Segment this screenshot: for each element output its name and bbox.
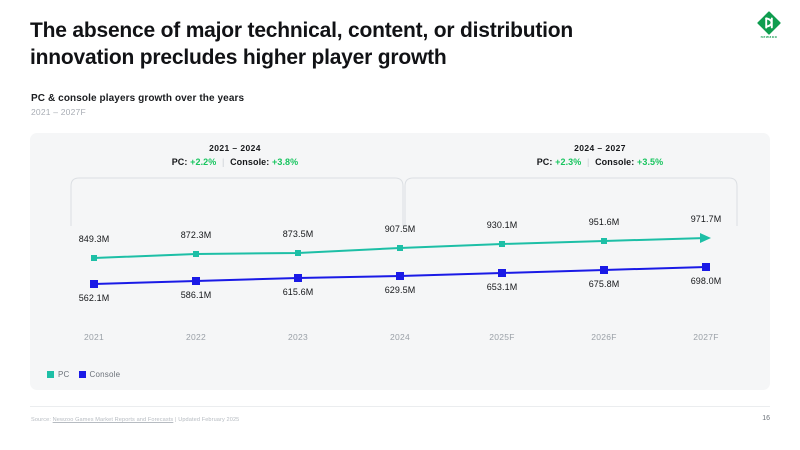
chart-panel: 2021 – 2024 PC: +2.2% | Console: +3.8% 2…: [30, 133, 770, 390]
legend-item-console[interactable]: Console: [79, 370, 121, 379]
x-axis-label-2022: 2022: [186, 332, 206, 342]
section-range: 2021 – 2027F: [31, 107, 86, 117]
legend-item-pc[interactable]: PC: [47, 370, 70, 379]
source-note: Source: Newzoo Games Market Reports and …: [31, 417, 239, 423]
page-title: The absence of major technical, content,…: [30, 18, 650, 72]
x-axis-label-2026f: 2026F: [591, 332, 617, 342]
x-axis-label-2023: 2023: [288, 332, 308, 342]
page-number: 16: [762, 415, 770, 422]
data-label-console: 562.1M: [79, 293, 110, 303]
data-label-pc: 930.1M: [487, 220, 518, 230]
x-axis-label-2025f: 2025F: [489, 332, 515, 342]
data-label-console: 675.8M: [589, 279, 620, 289]
data-label-pc: 971.7M: [691, 214, 722, 224]
logo-wordmark: newzoo: [761, 36, 778, 40]
section-heading: PC & console players growth over the yea…: [31, 93, 244, 104]
footer-divider: [30, 406, 770, 407]
legend-swatch-pc: [47, 371, 54, 378]
data-label-pc: 873.5M: [283, 229, 314, 239]
data-label-pc: 872.3M: [181, 230, 212, 240]
x-axis-label-2027f: 2027F: [693, 332, 719, 342]
source-prefix: Source:: [31, 417, 51, 423]
newzoo-logo: newzoo: [752, 8, 786, 42]
source-link[interactable]: Newzoo Games Market Reports and Forecast…: [53, 417, 174, 423]
plot-area: 849.3M 872.3M 873.5M 907.5M 930.1M 951.6…: [30, 133, 770, 390]
x-axis-label-2024: 2024: [390, 332, 410, 342]
data-label-console: 615.6M: [283, 287, 314, 297]
newzoo-diamond-logo-icon: [757, 11, 781, 35]
source-suffix: | Updated February 2025: [175, 417, 239, 423]
slide: newzoo The absence of major technical, c…: [0, 0, 800, 450]
data-label-console: 698.0M: [691, 276, 722, 286]
legend-label-pc: PC: [58, 370, 70, 379]
data-label-console: 629.5M: [385, 285, 416, 295]
data-label-console: 653.1M: [487, 282, 518, 292]
data-label-console: 586.1M: [181, 290, 212, 300]
series-lines: [30, 133, 770, 390]
x-axis-label-2021: 2021: [84, 332, 104, 342]
legend-swatch-console: [79, 371, 86, 378]
data-label-pc: 907.5M: [385, 224, 416, 234]
chart-legend: PC Console: [47, 370, 120, 379]
data-label-pc: 951.6M: [589, 217, 620, 227]
legend-label-console: Console: [90, 370, 121, 379]
data-label-pc: 849.3M: [79, 234, 110, 244]
